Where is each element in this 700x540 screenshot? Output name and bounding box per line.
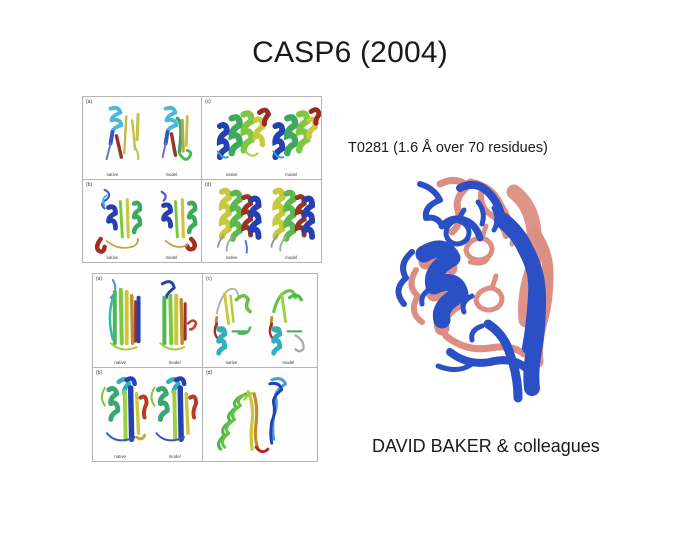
protein-ribbon-art-d bbox=[202, 180, 321, 263]
panel-tag-b: (b) bbox=[86, 182, 92, 188]
model-label: model bbox=[285, 172, 297, 177]
native-label: native bbox=[226, 172, 238, 177]
t0281-superposition-figure bbox=[386, 166, 600, 404]
attribution-caption: DAVID BAKER & colleagues bbox=[372, 436, 600, 457]
panel-a2-structure-captions: native model bbox=[93, 360, 202, 365]
model-label: model bbox=[283, 360, 295, 365]
figure-panel-c-bottom: (c) bbox=[203, 274, 317, 368]
panel-c2-structure-captions: native model bbox=[203, 360, 317, 365]
figure-panel-b-bottom: (b) bbox=[93, 368, 203, 461]
target-caption: T0281 (1.6 Å over 70 residues) bbox=[348, 140, 548, 156]
casp-prediction-grid-bottom: (a) bbox=[92, 273, 318, 462]
panel-tag-d: (d) bbox=[206, 370, 212, 376]
native-label: native bbox=[107, 172, 119, 177]
model-label: model bbox=[166, 255, 178, 260]
protein-ribbon-art-c bbox=[202, 97, 321, 179]
model-label: model bbox=[169, 454, 181, 459]
model-label: model bbox=[285, 255, 297, 260]
protein-ribbon-art-d2 bbox=[203, 368, 317, 461]
panel-b2-structure-captions: native model bbox=[93, 454, 202, 459]
native-label: native bbox=[114, 454, 126, 459]
model-label: model bbox=[166, 172, 178, 177]
native-label: native bbox=[226, 255, 238, 260]
protein-ribbon-art-b bbox=[83, 180, 201, 263]
panel-tag-a: (a) bbox=[96, 276, 102, 282]
panel-tag-b: (b) bbox=[96, 370, 102, 376]
panel-tag-c: (c) bbox=[205, 99, 211, 105]
panel-tag-d: (d) bbox=[205, 182, 211, 188]
protein-ribbon-art-b2 bbox=[93, 368, 202, 461]
panel-b-structure-captions: native model bbox=[83, 255, 201, 260]
figure-panel-c-top: (c) bbox=[202, 97, 321, 180]
casp-prediction-grid-top: (a) bbox=[82, 96, 322, 263]
figure-panel-d-bottom: (d) bbox=[203, 368, 317, 461]
protein-ribbon-art-c2 bbox=[203, 274, 317, 367]
figure-panel-a-bottom: (a) bbox=[93, 274, 203, 368]
panel-d-structure-captions: native model bbox=[202, 255, 321, 260]
native-label: native bbox=[107, 255, 119, 260]
protein-ribbon-art-a2 bbox=[93, 274, 202, 367]
panel-c-structure-captions: native model bbox=[202, 172, 321, 177]
figure-panel-b-top: (b) bbox=[83, 180, 202, 263]
model-label: model bbox=[169, 360, 181, 365]
figure-panel-a-top: (a) bbox=[83, 97, 202, 180]
protein-ribbon-art-a bbox=[83, 97, 201, 179]
panel-tag-a: (a) bbox=[86, 99, 92, 105]
page-title: CASP6 (2004) bbox=[0, 36, 700, 70]
native-label: native bbox=[114, 360, 126, 365]
panel-tag-c: (c) bbox=[206, 276, 212, 282]
panel-a-structure-captions: native model bbox=[83, 172, 201, 177]
figure-panel-d-top: (d) bbox=[202, 180, 321, 263]
native-label: native bbox=[226, 360, 238, 365]
